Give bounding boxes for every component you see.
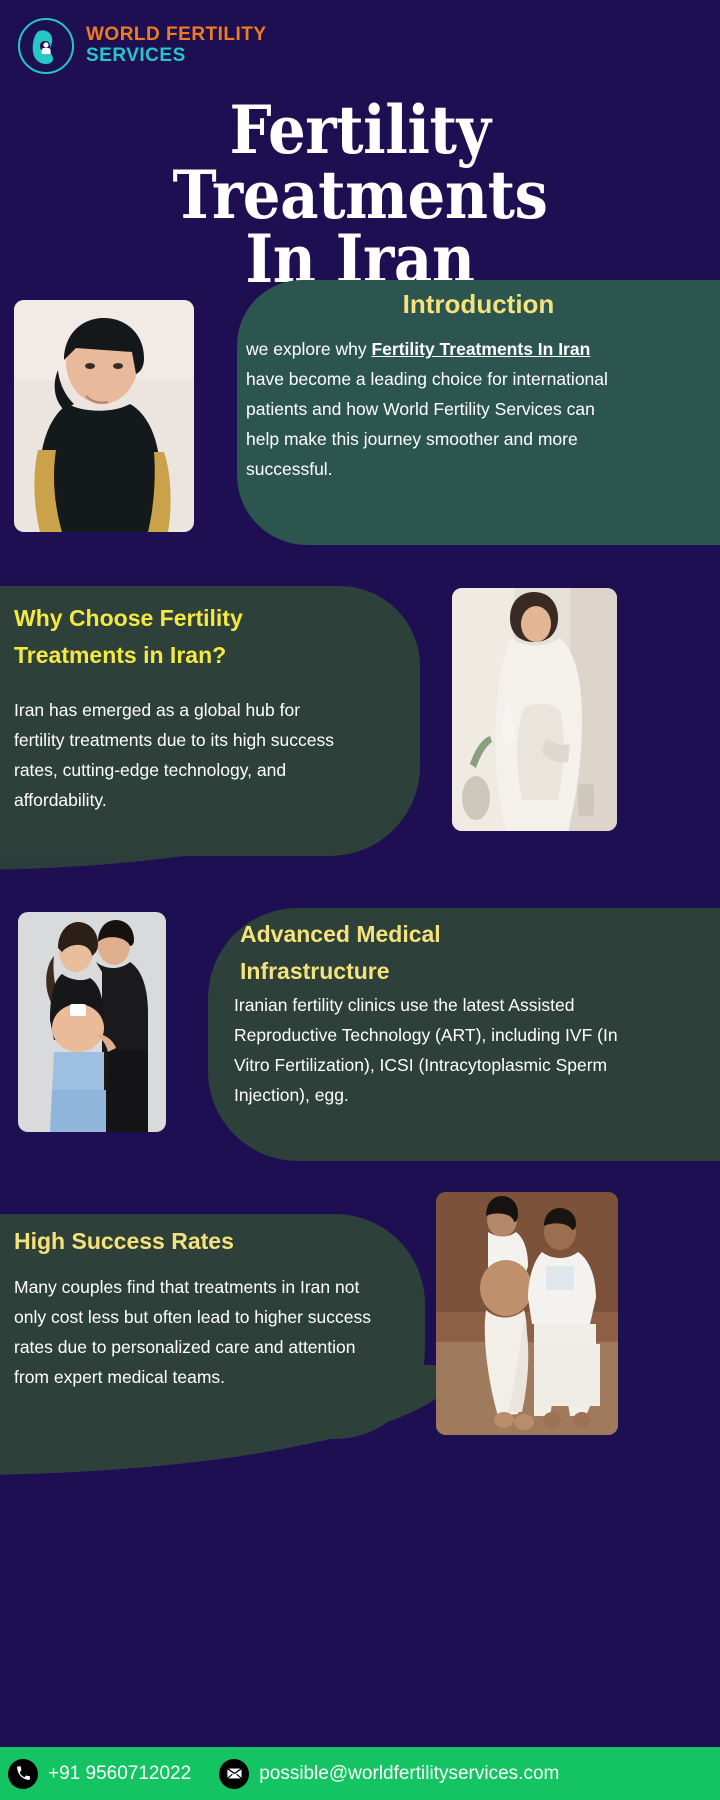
advanced-medical-heading: Advanced Medical Infrastructure	[240, 916, 540, 990]
advanced-medical-body: Iranian fertility clinics use the latest…	[234, 990, 619, 1110]
mother-child-icon	[18, 18, 74, 74]
page-title-line-1: Fertility Treatments	[172, 91, 547, 234]
introduction-body-post: have become a leading choice for interna…	[246, 369, 608, 479]
introduction-body-pre: we explore why	[246, 339, 371, 359]
high-success-heading: High Success Rates	[14, 1228, 234, 1255]
footer-email-text[interactable]: possible@worldfertilityservices.com	[259, 1763, 559, 1785]
page-title: Fertility Treatments In Iran	[36, 98, 684, 292]
footer-phone-text[interactable]: +91 9560712022	[48, 1763, 191, 1785]
introduction-body: we explore why Fertility Treatments In I…	[246, 334, 624, 484]
footer-contact-bar: +91 9560712022 possible@worldfertilityse…	[0, 1747, 720, 1800]
envelope-icon[interactable]	[219, 1759, 249, 1789]
brand-line-2: SERVICES	[86, 46, 267, 67]
high-success-body: Many couples find that treatments in Ira…	[14, 1272, 384, 1392]
introduction-image	[14, 300, 194, 532]
why-choose-image	[452, 588, 617, 831]
why-choose-body: Iran has emerged as a global hub for fer…	[14, 695, 344, 815]
high-success-image	[436, 1192, 618, 1435]
brand-logo[interactable]: WORLD FERTILITY SERVICES	[18, 18, 267, 74]
phone-icon[interactable]	[8, 1759, 38, 1789]
introduction-body-bold: Fertility Treatments In Iran	[371, 339, 590, 359]
brand-line-1: WORLD FERTILITY	[86, 25, 267, 46]
introduction-heading: Introduction	[237, 289, 720, 320]
advanced-medical-image	[18, 912, 166, 1132]
brand-wordmark: WORLD FERTILITY SERVICES	[86, 25, 267, 66]
why-choose-heading: Why Choose Fertility Treatments in Iran?	[14, 600, 334, 674]
